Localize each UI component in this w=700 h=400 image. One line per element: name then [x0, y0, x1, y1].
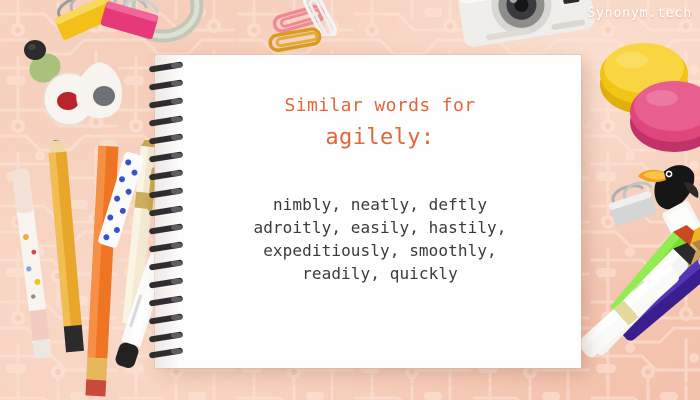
pen-white-confetti — [12, 168, 52, 359]
binder-clip-pink — [92, 0, 168, 48]
camera — [452, 0, 602, 60]
spiral-binding — [147, 60, 193, 360]
macaron-pink — [626, 70, 700, 156]
synonym-list: nimbly, neatly, deftly adroitly, easily,… — [195, 193, 565, 285]
synonym-line: expeditiously, smoothly, — [195, 239, 565, 262]
eraser-white-grey — [70, 60, 130, 124]
notebook-page: Similar words for agilely: nimbly, neatl… — [155, 55, 581, 368]
synonym-line: nimbly, neatly, deftly — [195, 193, 565, 216]
site-logo[interactable]: Synonym.tech — [587, 6, 692, 21]
page-title-prefix: Similar words for — [195, 91, 565, 121]
desk-background: Similar words for agilely: nimbly, neatl… — [0, 0, 700, 400]
paper-clip-gold — [264, 24, 328, 56]
marker-cluster-right — [578, 216, 700, 400]
notebook-content: Similar words for agilely: nimbly, neatl… — [195, 91, 565, 285]
synonym-line: readily, quickly — [195, 262, 565, 285]
synonym-line: adroitly, easily, hastily, — [195, 216, 565, 239]
page-headword: agilely: — [195, 121, 565, 155]
pencil-yellow — [47, 140, 84, 352]
